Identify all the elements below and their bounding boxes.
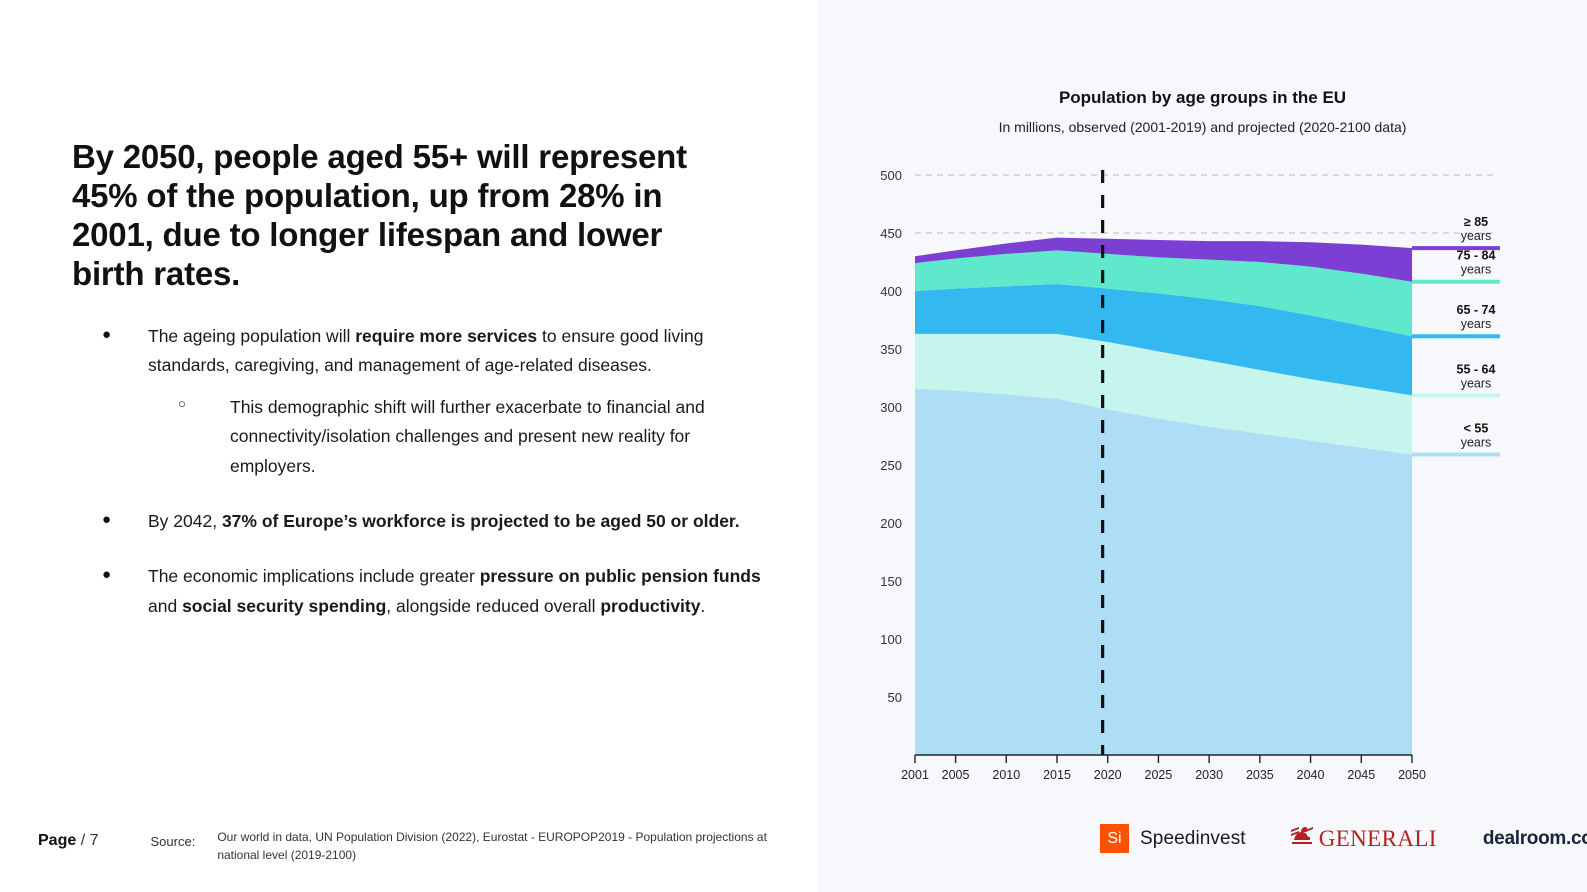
source-text: Our world in data, UN Population Divisio… [217, 828, 777, 864]
logo-dealroom: dealroom.co [1483, 828, 1587, 850]
page-number: / 7 [81, 832, 99, 849]
bullet-plain: , alongside reduced overall [386, 596, 600, 616]
bullet-emphasis: pressure on public pension funds [480, 566, 761, 586]
x-axis-tick-label: 2010 [992, 768, 1020, 782]
speedinvest-wordmark: Speedinvest [1140, 828, 1246, 850]
logo-row: Si Speedinvest GENERALI dealroom.co [1100, 824, 1587, 853]
legend-label-unit: years [1461, 436, 1492, 450]
generali-lion-icon [1290, 825, 1316, 852]
x-axis-tick-label: 2045 [1347, 768, 1375, 782]
legend-label-unit: years [1461, 376, 1492, 390]
speedinvest-mark-icon: Si [1100, 824, 1129, 853]
y-axis-tick-label: 500 [880, 168, 902, 183]
bullet-plain: . [700, 596, 705, 616]
legend-label-range: ≥ 85 [1464, 215, 1488, 229]
bullet-text: The ageing population will require more … [148, 322, 766, 381]
bullet-marker-icon: ● [96, 562, 148, 621]
bullet-item: ●The economic implications include great… [96, 562, 766, 621]
logo-speedinvest: Si Speedinvest [1100, 824, 1246, 853]
bullet-plain: and [148, 596, 182, 616]
legend-label-range: < 55 [1464, 422, 1489, 436]
sub-bullet-item: ○This demographic shift will further exa… [148, 393, 766, 481]
sub-bullet-text: This demographic shift will further exac… [230, 393, 766, 481]
x-axis-tick-label: 2035 [1246, 768, 1274, 782]
legend-label-unit: years [1461, 229, 1492, 243]
stacked-area-chart: 5010015020025030035040045050020012005201… [818, 0, 1587, 892]
legend-label-range: 75 - 84 [1457, 249, 1496, 263]
bullet-emphasis: 37% of Europe’s workforce is projected t… [222, 511, 740, 531]
y-axis-tick-label: 350 [880, 342, 902, 357]
y-axis-tick-label: 300 [880, 400, 902, 415]
x-axis-tick-label: 2001 [901, 768, 929, 782]
dealroom-wordmark: dealroom.co [1483, 828, 1587, 850]
logo-generali: GENERALI [1290, 825, 1437, 852]
x-axis-tick-label: 2020 [1094, 768, 1122, 782]
bullet-text: The economic implications include greate… [148, 562, 766, 621]
x-axis-tick-label: 2005 [942, 768, 970, 782]
bullet-plain: The economic implications include greate… [148, 566, 480, 586]
y-axis-tick-label: 200 [880, 516, 902, 531]
x-axis-tick-label: 2050 [1398, 768, 1426, 782]
bullet-item: ●By 2042, 37% of Europe’s workforce is p… [96, 507, 766, 536]
x-axis-tick-label: 2015 [1043, 768, 1071, 782]
y-axis-tick-label: 150 [880, 574, 902, 589]
bullet-text: By 2042, 37% of Europe’s workforce is pr… [148, 507, 766, 536]
legend-label-unit: years [1461, 317, 1492, 331]
source-label: Source: [151, 828, 196, 849]
bullet-item: ●The ageing population will require more… [96, 322, 766, 481]
generali-wordmark: GENERALI [1319, 826, 1437, 852]
y-axis-tick-label: 100 [880, 632, 902, 647]
legend-label-range: 65 - 74 [1457, 303, 1496, 317]
page-word: Page [38, 832, 76, 849]
left-content-panel: By 2050, people aged 55+ will represent … [0, 0, 818, 892]
legend-label-unit: years [1461, 263, 1492, 277]
page-title: By 2050, people aged 55+ will represent … [72, 138, 732, 294]
footer-left: Page / 7 Source: Our world in data, UN P… [38, 828, 777, 864]
y-axis-tick-label: 450 [880, 226, 902, 241]
page-indicator: Page / 7 [38, 828, 99, 850]
bullet-plain: The ageing population will [148, 326, 355, 346]
y-axis-tick-label: 50 [888, 690, 902, 705]
y-axis-tick-label: 400 [880, 284, 902, 299]
bullet-marker-icon: ● [96, 322, 148, 481]
legend-label-range: 55 - 64 [1457, 362, 1496, 376]
bullet-list: ●The ageing population will require more… [96, 322, 766, 621]
sub-bullet-marker-icon: ○ [148, 393, 230, 481]
x-axis-tick-label: 2040 [1297, 768, 1325, 782]
bullet-emphasis: social security spending [182, 596, 386, 616]
x-axis-tick-label: 2025 [1145, 768, 1173, 782]
bullet-emphasis: productivity [600, 596, 700, 616]
x-axis-tick-label: 2030 [1195, 768, 1223, 782]
y-axis-tick-label: 250 [880, 458, 902, 473]
bullet-marker-icon: ● [96, 507, 148, 536]
chart-svg: 5010015020025030035040045050020012005201… [818, 0, 1587, 892]
bullet-emphasis: require more services [355, 326, 537, 346]
bullet-plain: By 2042, [148, 511, 222, 531]
